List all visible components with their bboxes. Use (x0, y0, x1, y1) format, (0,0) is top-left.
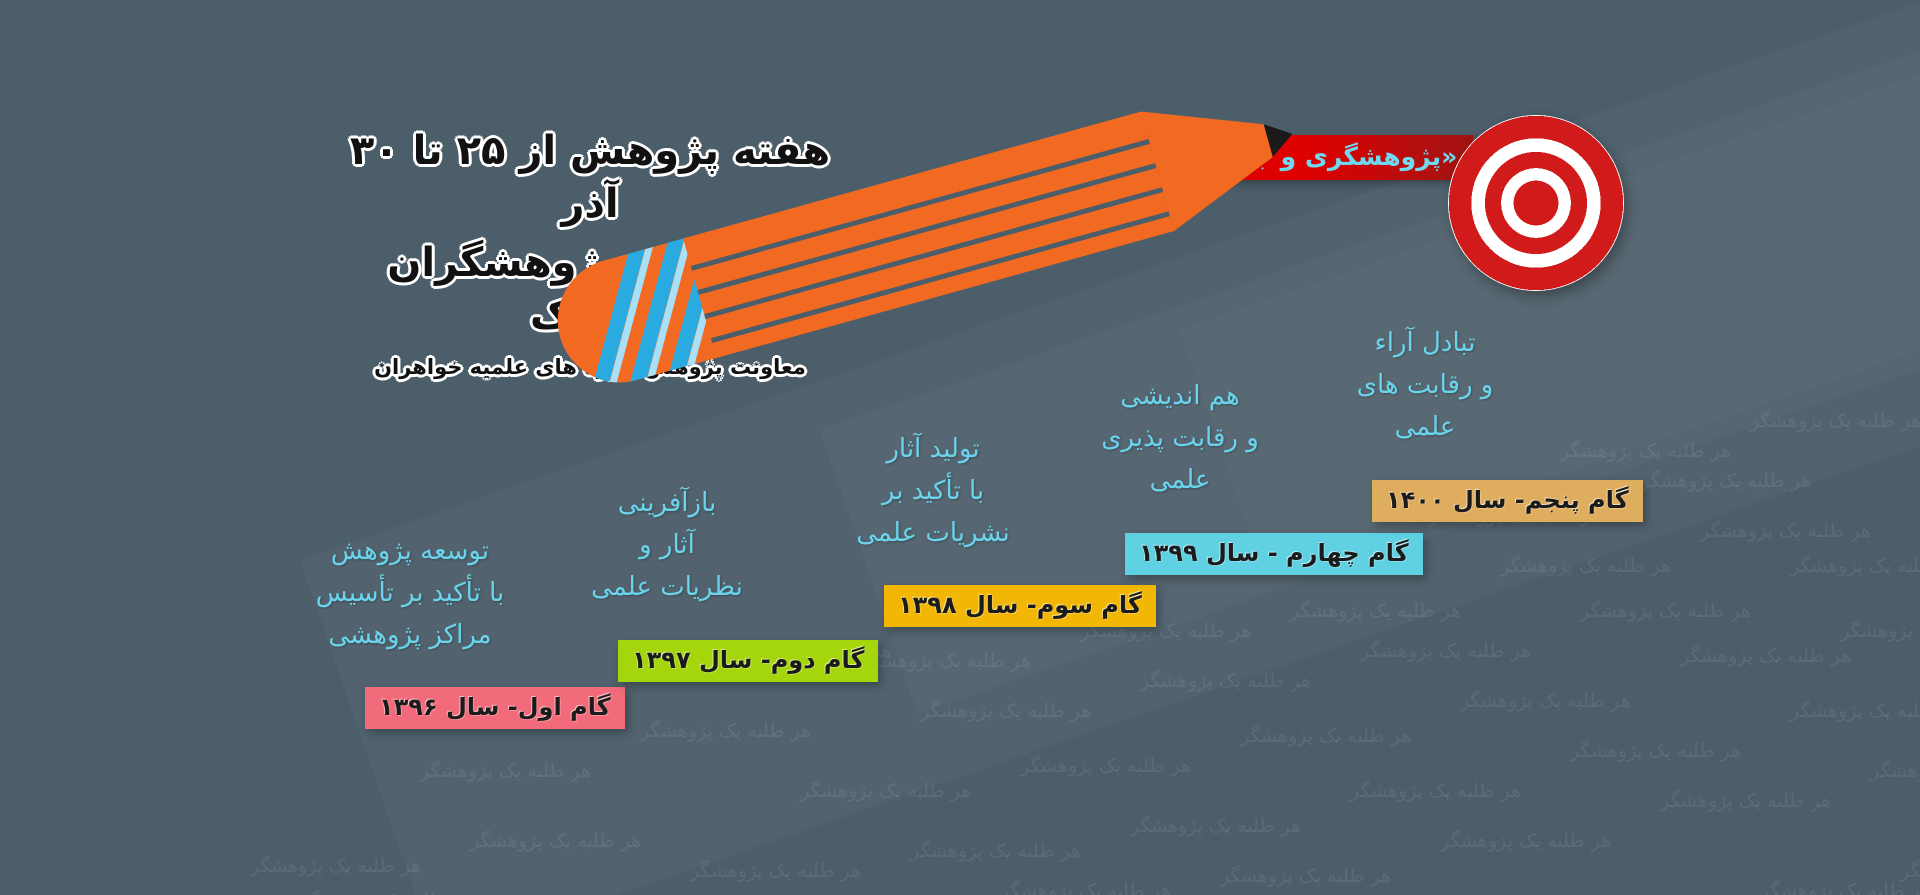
step-4-description: هم اندیشی و رقابت پذیری علمی (1065, 375, 1295, 501)
step-1-desc-line-2: با تأکید بر تأسیس (295, 572, 525, 614)
watermark-text: هر طلبه یک پژوهشگر (1900, 860, 1920, 882)
watermark-text: هر طلبه یک پژوهشگر (1870, 760, 1920, 782)
step-3-desc-line-3: نشریات علمی (818, 512, 1048, 554)
watermark-text: هر طلبه یک پژوهشگر (1240, 725, 1411, 747)
step-2-desc-line-3: نظریات علمی (552, 566, 782, 608)
step-1-desc-line-3: مراکز پژوهشی (295, 614, 525, 656)
watermark-text: هر طلبه یک پژوهشگر (860, 650, 1031, 672)
poster-canvas: هر طلبه یک پژوهشگرهر طلبه یک پژوهشگرهر ط… (0, 0, 1920, 895)
step-5-desc-line-1: تبادل آراء (1310, 322, 1540, 364)
watermark-text: هر طلبه یک پژوهشگر (250, 855, 421, 877)
step-2-banner: گام دوم- سال ۱۳۹۷ (618, 640, 878, 682)
watermark-text: هر طلبه یک پژوهشگر (1790, 700, 1920, 722)
watermark-text: هر طلبه یک پژوهشگر (1440, 830, 1611, 852)
watermark-text: هر طلبه یک پژوهشگر (1460, 690, 1631, 712)
watermark-text: هر طلبه یک پژوهشگر (1700, 520, 1871, 542)
step-2-desc-line-2: آثار و (552, 524, 782, 566)
step-2-description: بازآفرینی آثار و نظریات علمی (552, 482, 782, 608)
watermark-text: هر طلبه یک پژوهشگر (300, 890, 471, 895)
headline-line-1: هفته پژوهش از ۲۵ تا ۳۰ آذر (330, 125, 850, 231)
headline-line-2: بر عموم پژوهشگران مبارک (330, 237, 850, 343)
watermark-text: هر طلبه یک پژوهشگر (1750, 410, 1920, 432)
watermark-text: هر طلبه یک پژوهشگر (1680, 645, 1851, 667)
watermark-text: هر طلبه یک پژوهشگر (910, 840, 1081, 862)
watermark-text: هر طلبه یک پژوهشگر (1500, 555, 1671, 577)
watermark-text: هر طلبه یک پژوهشگر (1290, 600, 1461, 622)
step-5-desc-line-3: علمی (1310, 406, 1540, 448)
watermark-text: هر طلبه یک پژوهشگر (1020, 755, 1191, 777)
headline-block: هفته پژوهش از ۲۵ تا ۳۰ آذر بر عموم پژوهش… (330, 125, 850, 382)
watermark-text: هر طلبه یک پژوهشگر (920, 700, 1091, 722)
step-2-desc-line-1: بازآفرینی (552, 482, 782, 524)
step-3-description: تولید آثار با تأکید بر نشریات علمی (818, 428, 1048, 554)
watermark-text: هر طلبه یک پژوهشگر (800, 780, 971, 802)
watermark-text: هر طلبه یک پژوهشگر (1130, 815, 1301, 837)
watermark-text: هر طلبه یک پژوهشگر (1220, 865, 1391, 887)
watermark-text: هر طلبه یک پژوهشگر (1140, 670, 1311, 692)
step-5-description: تبادل آراء و رقابت های علمی (1310, 322, 1540, 448)
step-5-desc-line-2: و رقابت های (1310, 364, 1540, 406)
slogan-banner: «پژوهشگری و جنبش علمی» (1088, 135, 1473, 180)
watermark-text: هر طلبه یک پژوهشگر (1360, 640, 1531, 662)
watermark-text: هر طلبه یک پژوهشگر (1560, 440, 1731, 462)
step-1-banner: گام اول- سال ۱۳۹۶ (365, 687, 625, 729)
step-1-description: توسعه پژوهش با تأکید بر تأسیس مراکز پژوه… (295, 530, 525, 656)
step-3-desc-line-1: تولید آثار (818, 428, 1048, 470)
watermark-text: هر طلبه یک پژوهشگر (1840, 620, 1920, 642)
watermark-text: هر طلبه یک پژوهشگر (640, 720, 811, 742)
step-4-desc-line-3: علمی (1065, 459, 1295, 501)
bullseye-target-icon (1448, 115, 1624, 291)
step-1-desc-line-1: توسعه پژوهش (295, 530, 525, 572)
watermark-text: هر طلبه یک پژوهشگر (420, 760, 591, 782)
headline-line-3: معاونت پژوهش حوزه های علمیه خواهران (330, 354, 850, 382)
watermark-text: هر طلبه یک پژوهشگر (690, 860, 861, 882)
watermark-text: هر طلبه یک پژوهشگر (1640, 470, 1811, 492)
watermark-text: هر طلبه یک پژوهشگر (1000, 880, 1171, 895)
step-4-desc-line-2: و رقابت پذیری (1065, 417, 1295, 459)
step-5-banner: گام پنجم- سال ۱۴۰۰ (1372, 480, 1643, 522)
step-4-banner: گام چهارم - سال ۱۳۹۹ (1125, 533, 1423, 575)
watermark-text: هر طلبه یک پژوهشگر (1790, 555, 1920, 577)
step-4-desc-line-1: هم اندیشی (1065, 375, 1295, 417)
watermark-text: هر طلبه یک پژوهشگر (470, 830, 641, 852)
watermark-text: هر طلبه یک پژوهشگر (1580, 600, 1751, 622)
step-3-desc-line-2: با تأکید بر (818, 470, 1048, 512)
watermark-text: هر طلبه یک پژوهشگر (1570, 740, 1741, 762)
watermark-text: هر طلبه یک پژوهشگر (1350, 780, 1521, 802)
step-3-banner: گام سوم- سال ۱۳۹۸ (884, 585, 1156, 627)
watermark-text: هر طلبه یک پژوهشگر (1760, 880, 1920, 895)
watermark-text: هر طلبه یک پژوهشگر (1660, 790, 1831, 812)
